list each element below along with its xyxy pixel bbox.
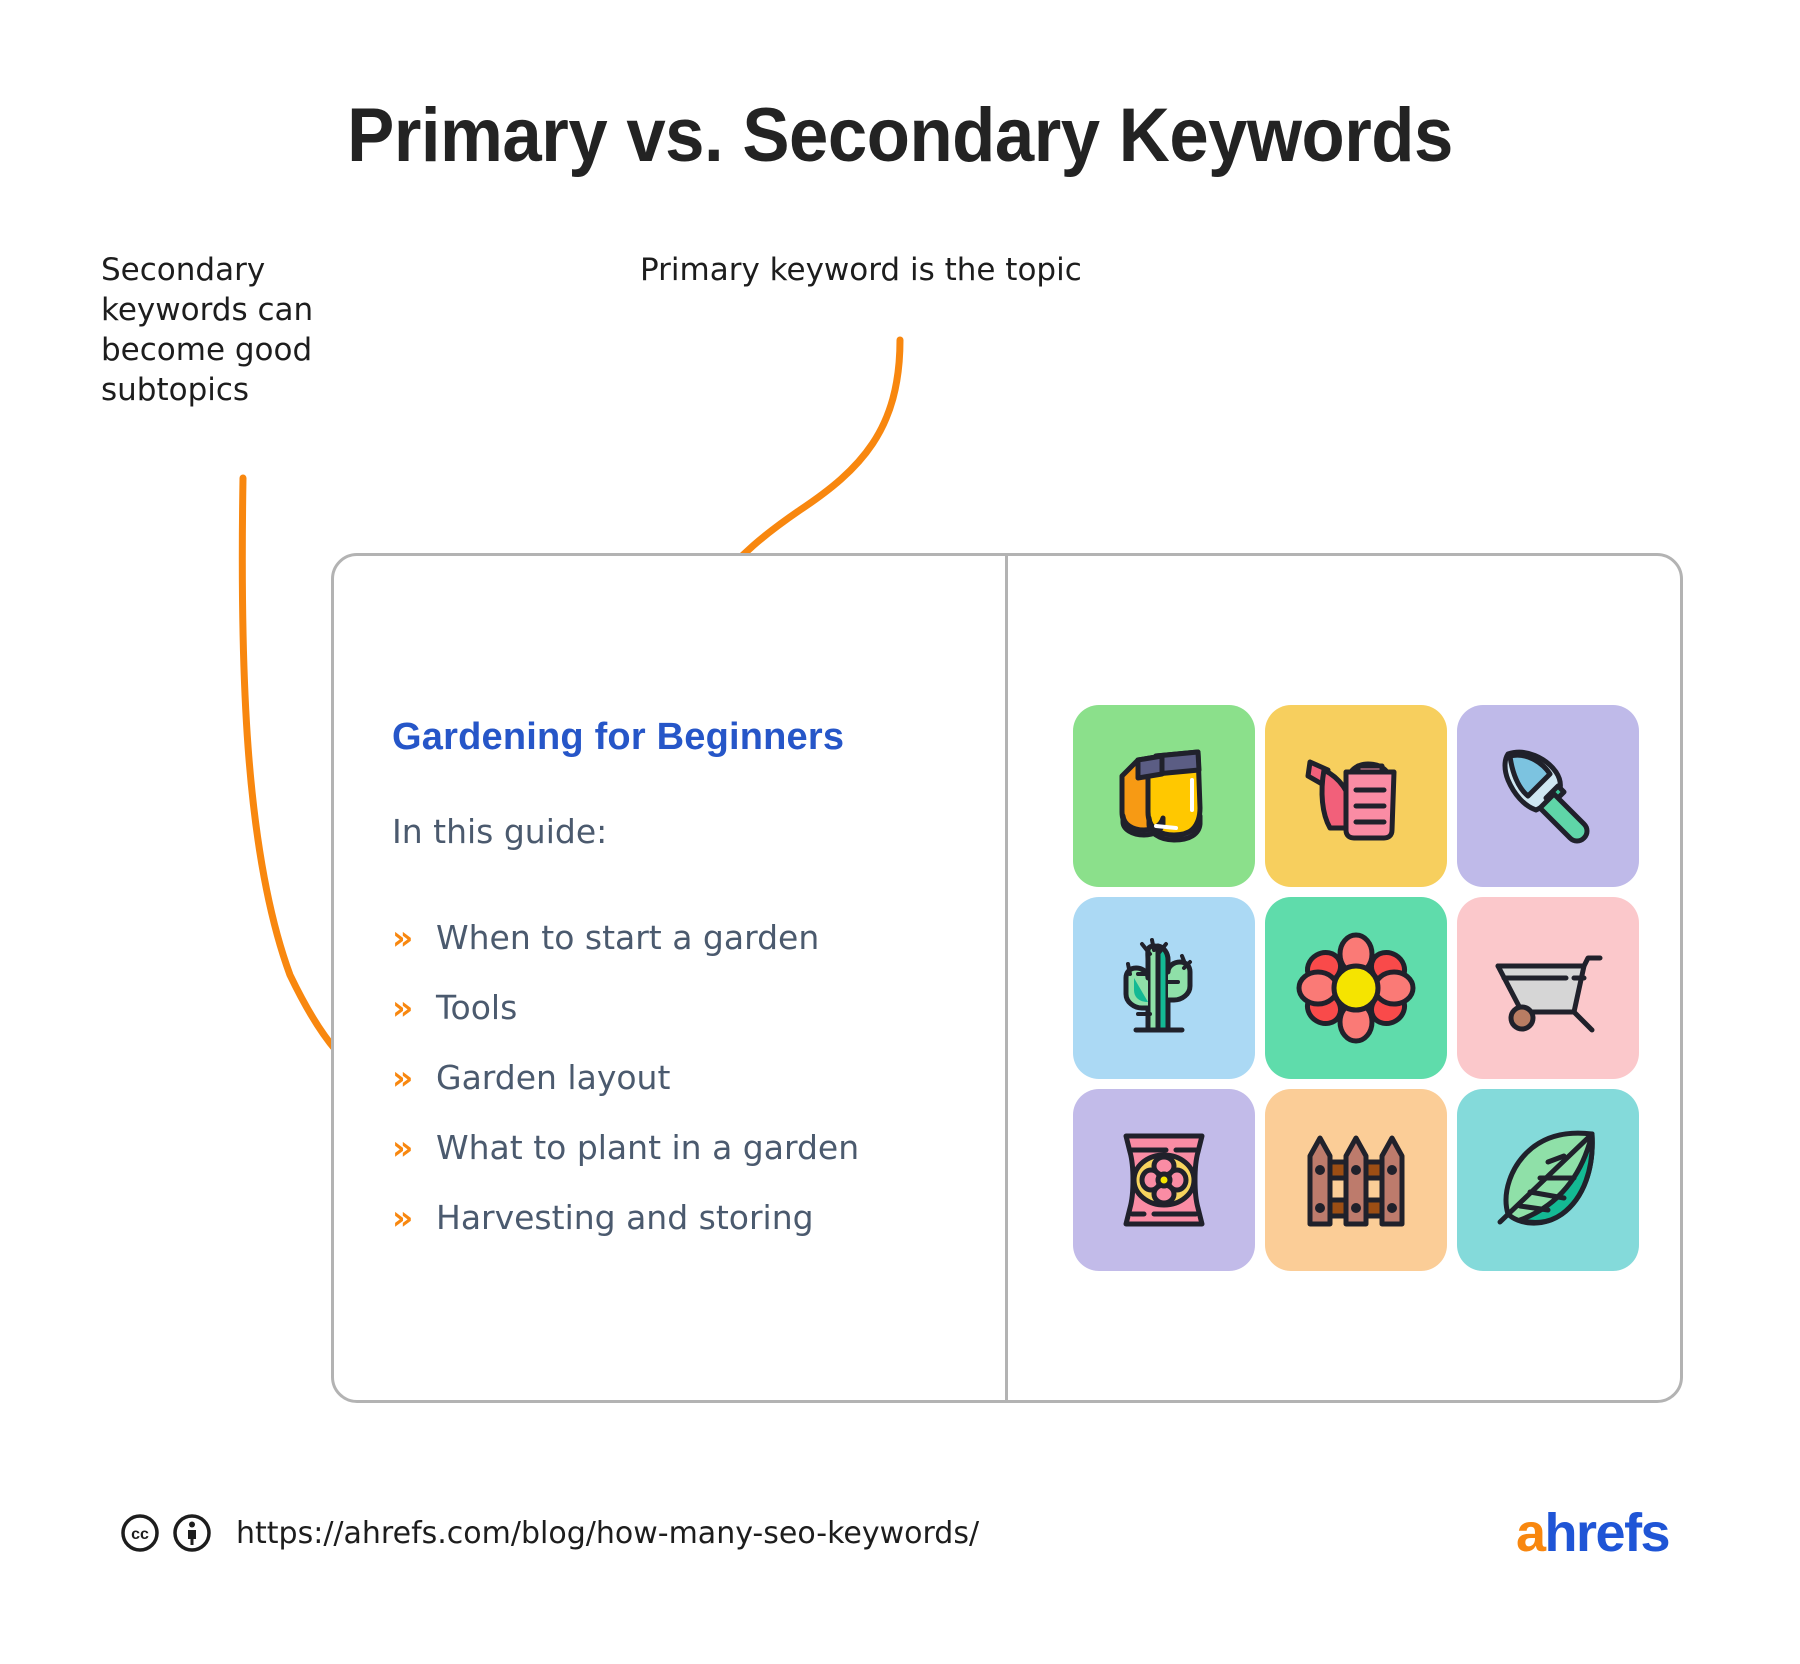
list-item-label: Harvesting and storing xyxy=(436,1198,814,1237)
gardening-icon-grid xyxy=(1073,705,1639,1271)
attribution-icon xyxy=(172,1513,212,1553)
list-item: » Harvesting and storing xyxy=(392,1198,859,1268)
card-vertical-divider xyxy=(1005,556,1008,1400)
ahrefs-logo: ahrefs xyxy=(1516,1502,1669,1564)
list-item: » Garden layout xyxy=(392,1058,859,1128)
list-item-label: Tools xyxy=(436,988,517,1027)
page-title: Primary vs. Secondary Keywords xyxy=(63,92,1737,179)
list-item-label: When to start a garden xyxy=(436,918,819,957)
icon-tile xyxy=(1457,897,1639,1079)
chevron-double-right-icon: » xyxy=(392,1061,436,1094)
chevron-double-right-icon: » xyxy=(392,1201,436,1234)
list-item: » Tools xyxy=(392,988,859,1058)
ahrefs-logo-a: a xyxy=(1516,1503,1545,1563)
infographic-canvas: Primary vs. Secondary Keywords Secondary… xyxy=(0,0,1800,1664)
icon-tile xyxy=(1457,705,1639,887)
icon-tile xyxy=(1457,1089,1639,1271)
card-subheading: In this guide: xyxy=(392,812,607,851)
chevron-double-right-icon: » xyxy=(392,991,436,1024)
annotation-secondary-keywords: Secondary keywords can become good subto… xyxy=(101,250,401,410)
flower-icon xyxy=(1296,928,1416,1048)
list-item-label: Garden layout xyxy=(436,1058,670,1097)
wheelbarrow-icon xyxy=(1488,928,1608,1048)
icon-tile xyxy=(1265,897,1447,1079)
icon-tile xyxy=(1073,1089,1255,1271)
creative-commons-icon: cc xyxy=(120,1513,160,1553)
card-heading: Gardening for Beginners xyxy=(392,716,844,759)
license-icons: cc xyxy=(120,1513,212,1553)
icon-tile xyxy=(1073,705,1255,887)
chevron-double-right-icon: » xyxy=(392,1131,436,1164)
fence-icon xyxy=(1296,1120,1416,1240)
list-item: » When to start a garden xyxy=(392,918,859,988)
list-item-label: What to plant in a garden xyxy=(436,1128,859,1167)
source-url: https://ahrefs.com/blog/how-many-seo-key… xyxy=(236,1516,979,1551)
leaf-icon xyxy=(1488,1120,1608,1240)
icon-tile xyxy=(1265,705,1447,887)
list-item: » What to plant in a garden xyxy=(392,1128,859,1198)
icon-tile xyxy=(1265,1089,1447,1271)
cactus-icon xyxy=(1104,928,1224,1048)
watering-can-icon xyxy=(1296,736,1416,856)
chevron-double-right-icon: » xyxy=(392,921,436,954)
rain-boots-icon xyxy=(1104,736,1224,856)
ahrefs-logo-rest: hrefs xyxy=(1545,1503,1670,1563)
annotation-primary-keyword: Primary keyword is the topic xyxy=(640,250,1200,290)
seed-packet-icon xyxy=(1104,1120,1224,1240)
guide-topic-list: » When to start a garden » Tools » Garde… xyxy=(392,918,859,1268)
svg-text:cc: cc xyxy=(131,1526,149,1543)
trowel-icon xyxy=(1488,736,1608,856)
icon-tile xyxy=(1073,897,1255,1079)
